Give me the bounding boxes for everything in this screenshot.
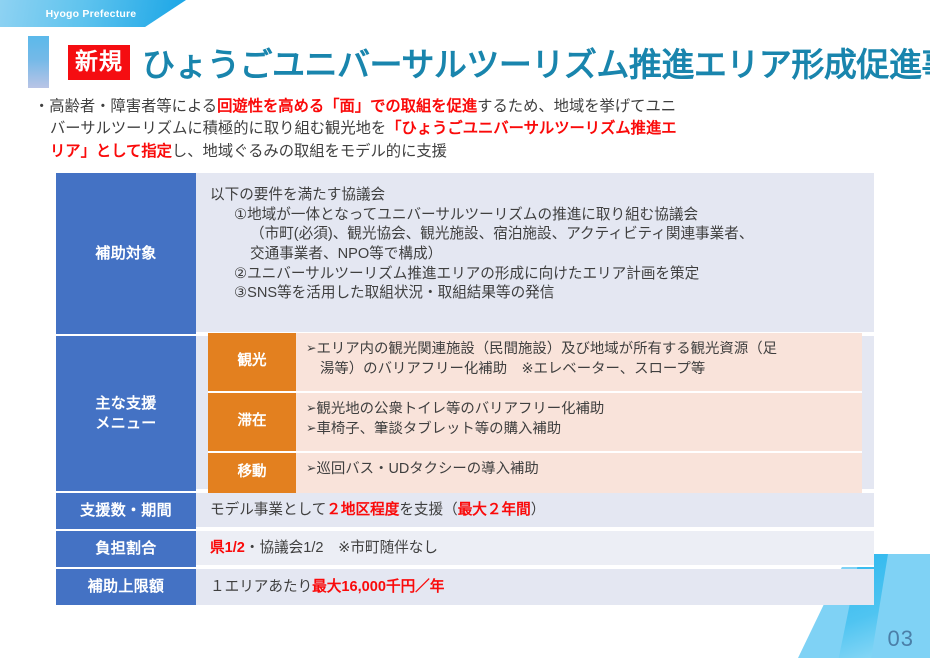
- lead-highlight-3: リア」として指定: [50, 143, 172, 160]
- title-accent-bar: [28, 36, 49, 88]
- count-period-text: モデル事業として２地区程度を支援（最大２年間）: [210, 500, 545, 521]
- hyogo-prefecture-banner: Hyogo Prefecture: [0, 0, 160, 27]
- support-menu-tag-stay: 滞在: [208, 393, 296, 451]
- table-row-subsidy-target: 補助対象 以下の要件を満たす協議会 ①地域が一体となってユニバーサルツーリズムの…: [56, 173, 874, 336]
- count-period-text-c: ）: [531, 502, 546, 518]
- row-content-support-menu: 観光 ➢エリア内の観光関連施設（民間施設）及び地域が所有する観光資源（足 湯等）…: [196, 336, 874, 491]
- lead-line-3: リア」として指定し、地域ぐるみの取組をモデル的に支援: [34, 141, 906, 163]
- lead-paragraph: ・高齢者・障害者等による回遊性を高める「面」での取組を促進するため、地域を挙げて…: [34, 96, 906, 163]
- cost-share-text: 県1/2・協議会1/2 ※市町随伴なし: [210, 538, 438, 559]
- support-menu-item-sightseeing: 観光 ➢エリア内の観光関連施設（民間施設）及び地域が所有する観光資源（足 湯等）…: [208, 333, 862, 393]
- support-menu-header-line-2: メニュー: [95, 414, 156, 433]
- table-row-support-menu: 主な支援 メニュー 観光 ➢エリア内の観光関連施設（民間施設）及び地域が所有する…: [56, 336, 874, 493]
- lead-line-2: バーサルツーリズムに積極的に取り組む観光地を「ひょうごユニバーサルツーリズム推進…: [34, 118, 906, 140]
- support-menu-tag-transport: 移動: [208, 453, 296, 493]
- support-menu-header-line-1: 主な支援: [95, 394, 156, 413]
- transport-line-1: ➢巡回バス・UDタクシーの導入補助: [306, 459, 854, 480]
- lead-text-3b: し、地域ぐるみの取組をモデル的に支援: [172, 143, 447, 160]
- support-menu-tag-sightseeing: 観光: [208, 333, 296, 391]
- cost-share-highlight-1: 県1/2: [210, 540, 245, 556]
- table-row-cost-share: 負担割合 県1/2・協議会1/2 ※市町随伴なし: [56, 531, 874, 569]
- stay-line-1: ➢観光地の公衆トイレ等のバリアフリー化補助: [306, 399, 854, 420]
- slide-title-row: 新規 ひょうごユニバーサルツーリズム推進エリア形成促進事業: [28, 36, 930, 88]
- row-header-subsidy-target: 補助対象: [56, 173, 196, 336]
- sightseeing-line-2: 湯等）のバリアフリー化補助 ※エレベーター、スロープ等: [306, 359, 854, 380]
- banner-label: Hyogo Prefecture: [24, 8, 137, 20]
- count-period-highlight-1: ２地区程度: [326, 502, 399, 518]
- target-line-2: ①地域が一体となってユニバーサルツーリズムの推進に取り組む協議会: [210, 206, 864, 226]
- stay-text-2: 車椅子、筆談タブレット等の購入補助: [316, 421, 561, 437]
- page-title: ひょうごユニバーサルツーリズム推進エリア形成促進事業: [142, 38, 930, 86]
- row-header-subsidy-cap: 補助上限額: [56, 569, 196, 605]
- lead-highlight-2: 「ひょうごユニバーサルツーリズム推進エ: [386, 120, 676, 137]
- row-content-count-period: モデル事業として２地区程度を支援（最大２年間）: [196, 493, 874, 529]
- transport-text-1: 巡回バス・UDタクシーの導入補助: [316, 461, 538, 477]
- target-line-5: ②ユニバーサルツーリズム推進エリアの形成に向けたエリア計画を策定: [210, 265, 864, 285]
- new-badge: 新規: [68, 45, 130, 80]
- count-period-text-a: モデル事業として: [210, 502, 326, 518]
- lead-text-1b: するため、地域を挙げてユニ: [477, 98, 676, 115]
- row-content-subsidy-target: 以下の要件を満たす協議会 ①地域が一体となってユニバーサルツーリズムの推進に取り…: [196, 173, 874, 334]
- bullet-arrow-icon: ➢: [306, 339, 316, 357]
- row-content-cost-share: 県1/2・協議会1/2 ※市町随伴なし: [196, 531, 874, 567]
- target-line-3: （市町(必須)、観光協会、観光施設、宿泊施設、アクティビティ関連事業者、: [210, 225, 864, 245]
- subsidy-cap-text-a: １エリアあたり: [210, 579, 312, 595]
- row-header-cost-share: 負担割合: [56, 531, 196, 569]
- support-menu-item-stay: 滞在 ➢観光地の公衆トイレ等のバリアフリー化補助 ➢車椅子、筆談タブレット等の購…: [208, 393, 862, 453]
- target-line-1: 以下の要件を満たす協議会: [210, 186, 864, 206]
- subsidy-cap-highlight-1: 最大16,000千円／年: [312, 579, 444, 595]
- row-header-count-period: 支援数・期間: [56, 493, 196, 531]
- row-header-support-menu: 主な支援 メニュー: [56, 336, 196, 493]
- target-line-6: ③SNS等を活用した取組状況・取組結果等の発信: [210, 284, 864, 304]
- subsidy-cap-text: １エリアあたり最大16,000千円／年: [210, 577, 444, 598]
- stay-text-1: 観光地の公衆トイレ等のバリアフリー化補助: [316, 401, 604, 417]
- lead-text-2a: バーサルツーリズムに積極的に取り組む観光地を: [50, 120, 386, 137]
- sightseeing-text-1: エリア内の観光関連施設（民間施設）及び地域が所有する観光資源（足: [316, 341, 777, 357]
- lead-line-1: ・高齢者・障害者等による回遊性を高める「面」での取組を促進するため、地域を挙げて…: [34, 96, 906, 118]
- support-menu-body-transport: ➢巡回バス・UDタクシーの導入補助: [296, 453, 862, 493]
- bullet-arrow-icon: ➢: [306, 459, 316, 477]
- lead-text-1a: ・高齢者・障害者等による: [34, 98, 217, 115]
- lead-highlight-1: 回遊性を高める「面」での取組を促進: [217, 98, 477, 115]
- support-menu-item-transport: 移動 ➢巡回バス・UDタクシーの導入補助: [208, 453, 862, 493]
- sightseeing-line-1: ➢エリア内の観光関連施設（民間施設）及び地域が所有する観光資源（足: [306, 339, 854, 360]
- support-menu-body-stay: ➢観光地の公衆トイレ等のバリアフリー化補助 ➢車椅子、筆談タブレット等の購入補助: [296, 393, 862, 451]
- row-content-subsidy-cap: １エリアあたり最大16,000千円／年: [196, 569, 874, 605]
- table-row-subsidy-cap: 補助上限額 １エリアあたり最大16,000千円／年: [56, 569, 874, 605]
- page-number: 03: [888, 626, 914, 652]
- support-menu-subtable: 観光 ➢エリア内の観光関連施設（民間施設）及び地域が所有する観光資源（足 湯等）…: [208, 333, 862, 493]
- count-period-highlight-2: 最大２年間: [458, 502, 531, 518]
- target-line-4: 交通事業者、NPO等で構成）: [210, 245, 864, 265]
- cost-share-text-a: ・協議会1/2 ※市町随伴なし: [245, 540, 438, 556]
- support-menu-body-sightseeing: ➢エリア内の観光関連施設（民間施設）及び地域が所有する観光資源（足 湯等）のバリ…: [296, 333, 862, 391]
- table-row-count-period: 支援数・期間 モデル事業として２地区程度を支援（最大２年間）: [56, 493, 874, 531]
- bullet-arrow-icon: ➢: [306, 419, 316, 437]
- count-period-text-b: を支援（: [399, 502, 457, 518]
- stay-line-2: ➢車椅子、筆談タブレット等の購入補助: [306, 419, 854, 440]
- bullet-arrow-icon: ➢: [306, 399, 316, 417]
- program-summary-table: 補助対象 以下の要件を満たす協議会 ①地域が一体となってユニバーサルツーリズムの…: [56, 173, 874, 605]
